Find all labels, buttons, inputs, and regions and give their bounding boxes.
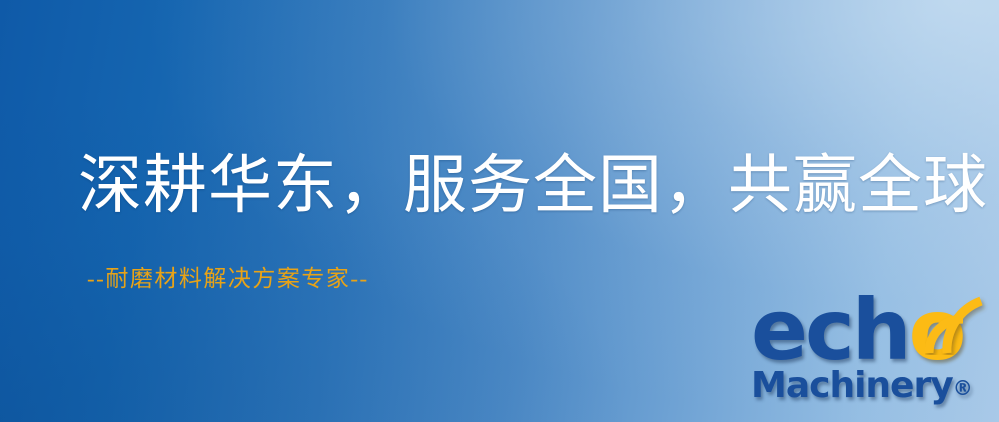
logo-tagline: Machinery® xyxy=(751,368,973,404)
echo-machinery-logo[interactable]: echo Machinery® xyxy=(745,296,999,422)
logo-tagline-text: Machinery xyxy=(751,365,953,406)
registered-trademark-icon: ® xyxy=(953,376,973,400)
hero-banner: 深耕华东，服务全国，共赢全球 --耐磨材料解决方案专家-- echo Machi… xyxy=(0,0,999,422)
signal-arcs-icon xyxy=(925,293,995,355)
banner-subtitle: --耐磨材料解决方案专家-- xyxy=(87,265,369,293)
banner-headline: 深耕华东，服务全国，共赢全球 xyxy=(78,152,988,219)
